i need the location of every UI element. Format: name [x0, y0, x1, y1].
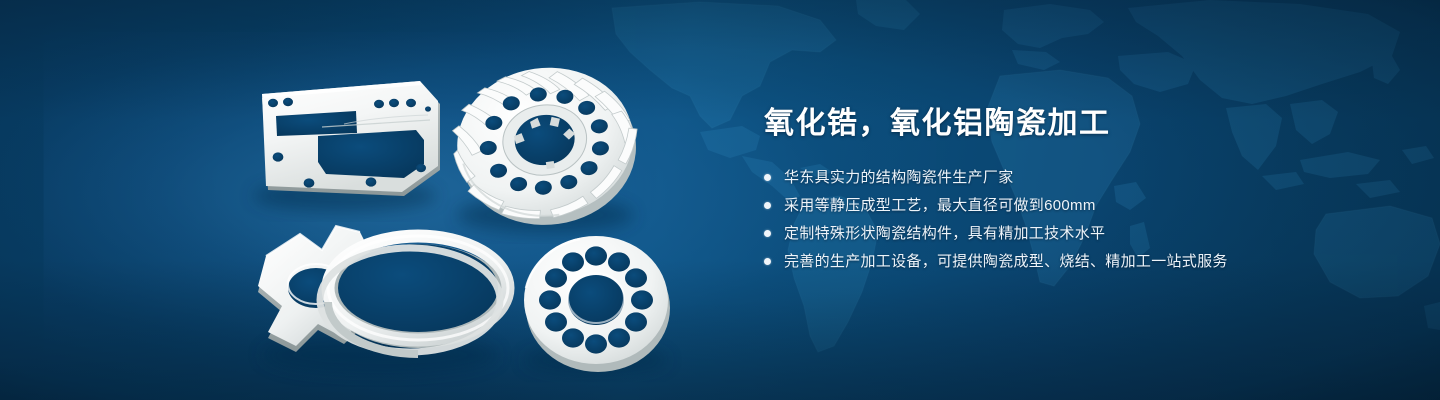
- feature-label: 华东具实力的结构陶瓷件生产厂家: [784, 168, 1014, 187]
- page-title: 氧化锆，氧化铝陶瓷加工: [764, 104, 1324, 144]
- hero-banner: 氧化锆，氧化铝陶瓷加工 华东具实力的结构陶瓷件生产厂家 采用等静压成型工艺，最大…: [0, 0, 1440, 400]
- product-photo-group: [0, 0, 720, 400]
- bullet-icon: [764, 230, 771, 237]
- bullet-icon: [764, 202, 771, 209]
- feature-label: 采用等静压成型工艺，最大直径可做到600mm: [784, 196, 1096, 215]
- bullet-icon: [764, 174, 771, 181]
- bullet-icon: [764, 258, 771, 265]
- ceramic-flat-plate: [262, 81, 440, 196]
- list-item: 定制特殊形状陶瓷结构件，具有精加工技术水平: [764, 224, 1324, 243]
- feature-label: 定制特殊形状陶瓷结构件，具有精加工技术水平: [784, 224, 1105, 243]
- list-item: 采用等静压成型工艺，最大直径可做到600mm: [764, 196, 1324, 215]
- list-item: 华东具实力的结构陶瓷件生产厂家: [764, 168, 1324, 187]
- feature-label: 完善的生产加工设备，可提供陶瓷成型、烧结、精加工一站式服务: [784, 252, 1228, 271]
- ceramic-perforated-disc: [524, 236, 670, 372]
- ceramic-ring: [320, 236, 508, 354]
- list-item: 完善的生产加工设备，可提供陶瓷成型、烧结、精加工一站式服务: [764, 252, 1324, 271]
- feature-list: 华东具实力的结构陶瓷件生产厂家 采用等静压成型工艺，最大直径可做到600mm 定…: [764, 168, 1324, 271]
- banner-copy: 氧化锆，氧化铝陶瓷加工 华东具实力的结构陶瓷件生产厂家 采用等静压成型工艺，最大…: [764, 104, 1324, 271]
